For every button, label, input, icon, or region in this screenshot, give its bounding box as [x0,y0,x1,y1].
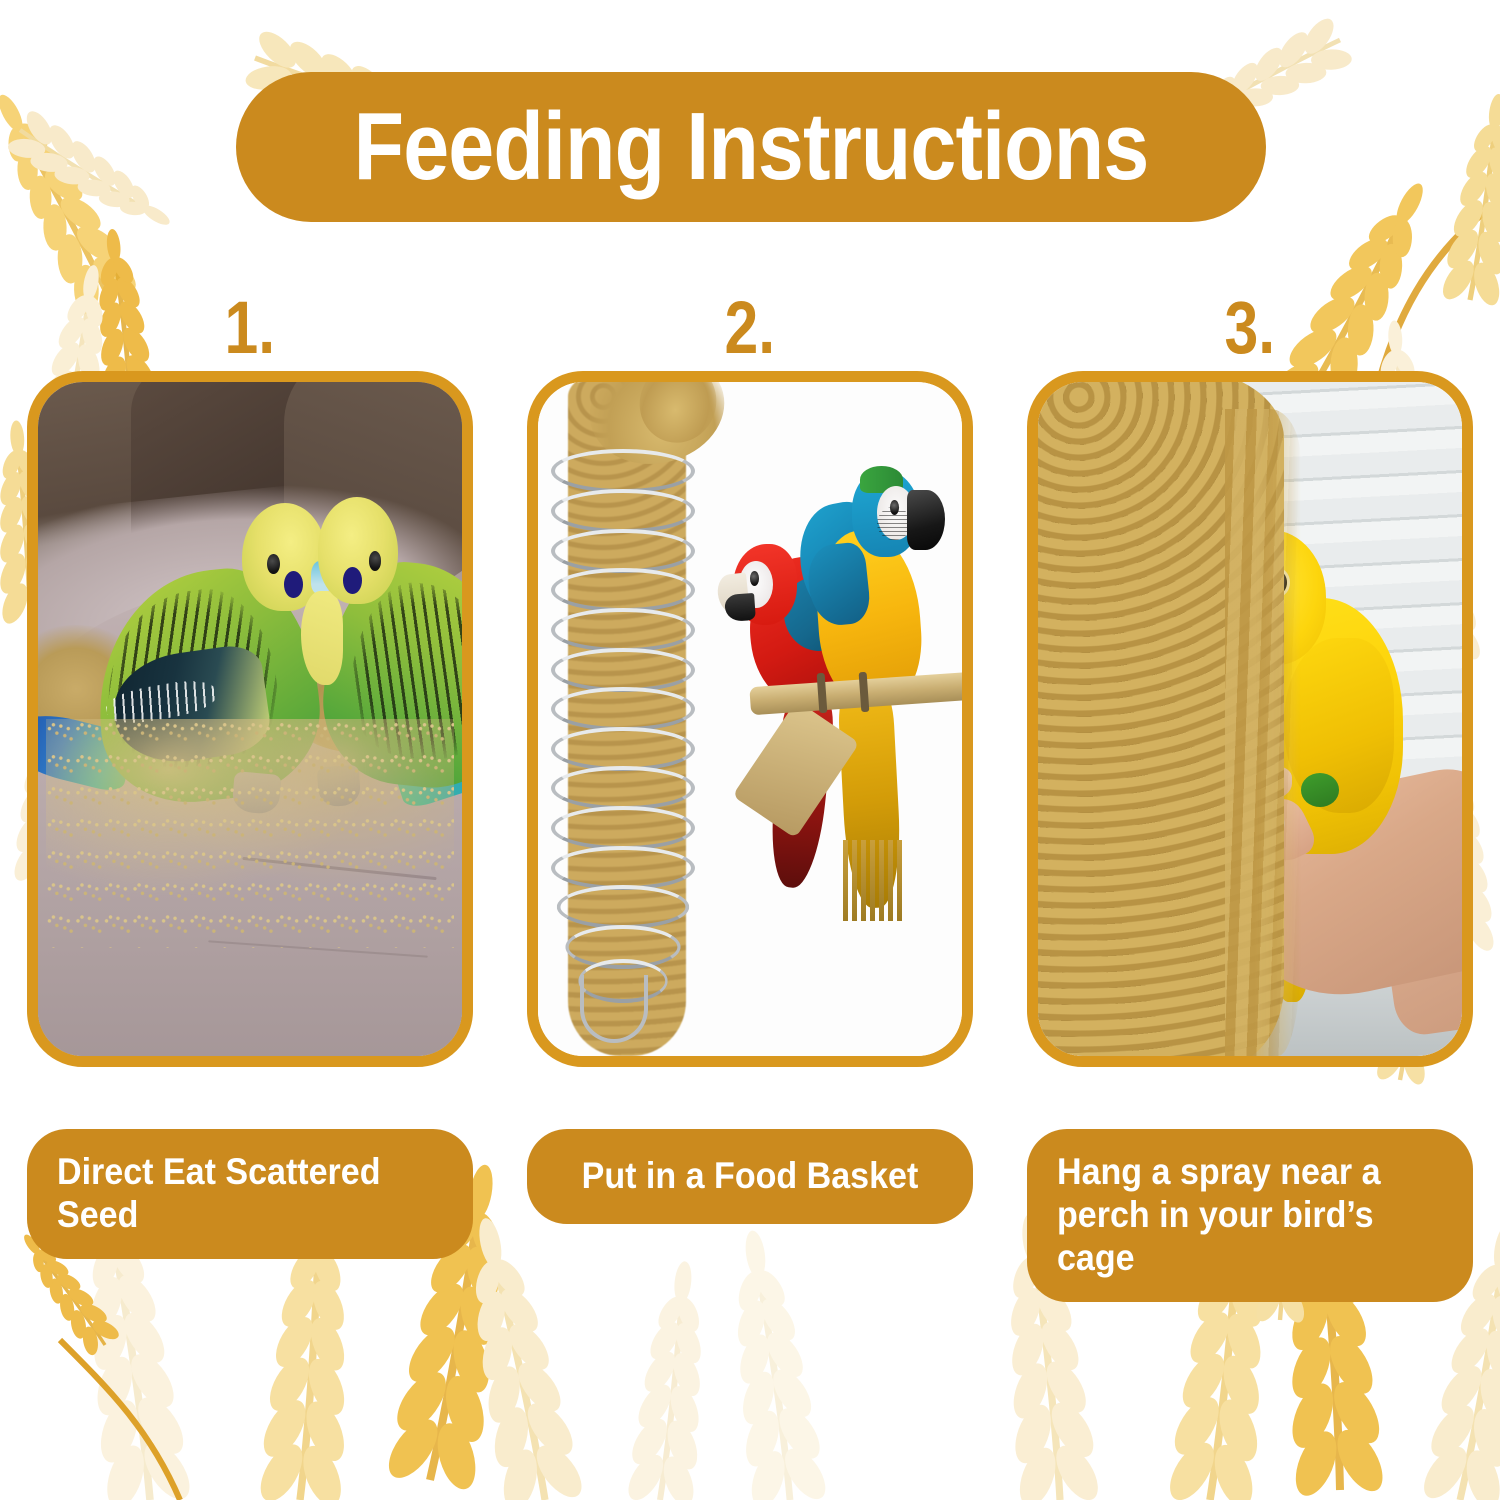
step-1-caption-text: Direct Eat Scattered Seed [57,1151,412,1237]
step-3-number: 3. [1225,285,1276,371]
step-3-photo-card [1027,371,1473,1067]
page-title: Feeding Instructions [354,99,1149,195]
step-3-caption-text: Hang a spray near a perch in your bird’s… [1057,1151,1412,1280]
step-1-photo-card [27,371,473,1067]
step-2-photo-card [527,371,973,1067]
step-3: 3. [1000,285,1500,1302]
step-2-caption-text: Put in a Food Basket [582,1155,919,1198]
step-1-caption: Direct Eat Scattered Seed [27,1129,473,1259]
step-1: 1. [0,285,500,1302]
step-2-number: 2. [725,285,776,371]
step-3-photo-conure-eating-hanging-millet-spray [1038,382,1462,1056]
step-2-photo-spiral-food-basket-with-macaws [538,382,962,1056]
step-1-number: 1. [225,285,276,371]
feeding-steps-row: 1. [0,285,1500,1302]
spiral-basket-coils [551,449,695,1015]
page-title-banner: Feeding Instructions [236,72,1266,222]
step-2: 2. [500,285,1000,1302]
step-1-photo-budgies-eating-scattered-seed [38,382,462,1056]
step-3-caption: Hang a spray near a perch in your bird’s… [1027,1129,1473,1302]
step-2-caption: Put in a Food Basket [527,1129,973,1224]
